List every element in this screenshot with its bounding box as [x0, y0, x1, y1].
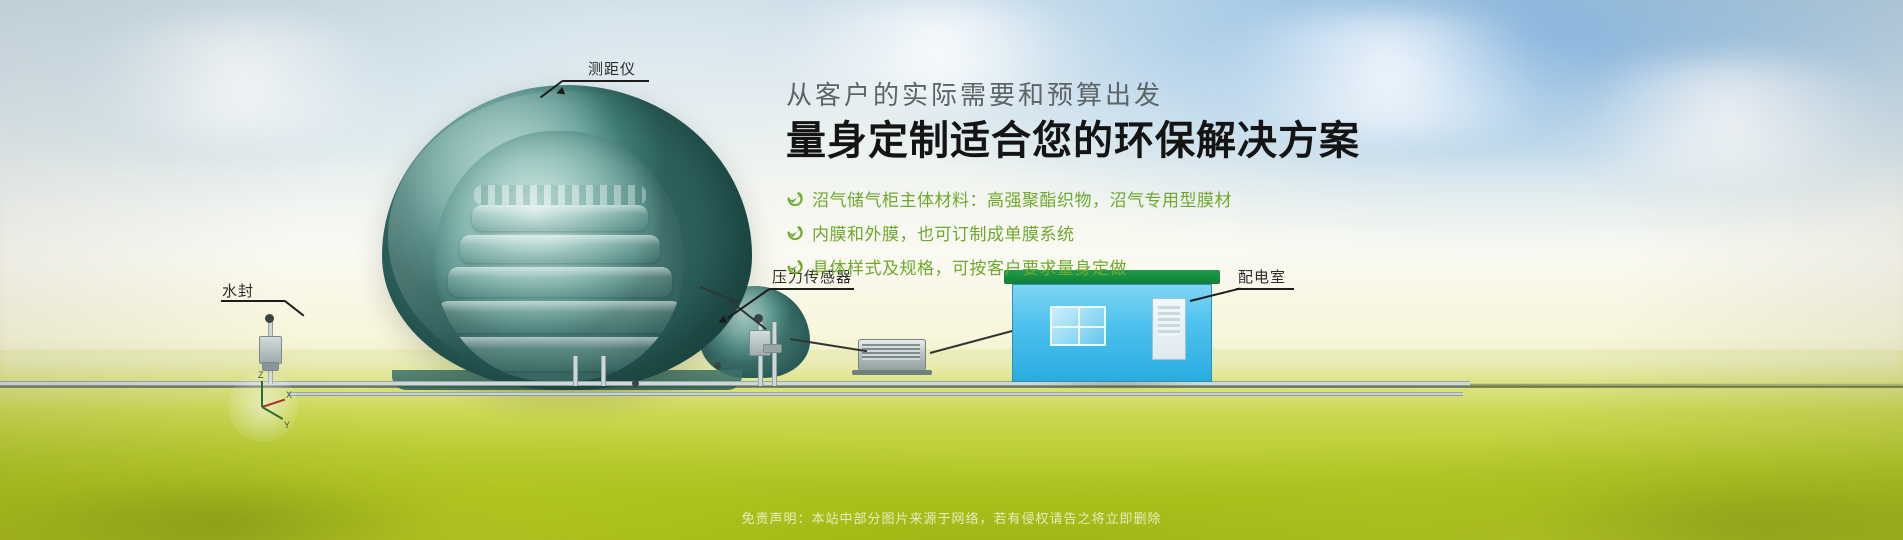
axis-x: [262, 399, 285, 408]
axis-gizmo: Z X Y: [228, 372, 298, 442]
feature-list: 沼气储气柜主体材料：高强聚酯织物，沼气专用型膜材 内膜和外膜，也可订制成单膜系统: [786, 183, 1786, 281]
membrane-fold: [434, 337, 684, 371]
footer-disclaimer: 免责声明：本站中部分图片来源于网络，若有侵权请告之将立即删除: [0, 508, 1903, 527]
cloud: [60, 20, 420, 140]
list-item-label: 内膜和外膜，也可订制成单膜系统: [812, 220, 1075, 245]
pipe-cap: [265, 314, 274, 323]
secondary-pipe: [288, 392, 1463, 396]
axis-label-x: X: [286, 390, 292, 400]
field-shadow-right: [1500, 470, 1903, 540]
pipe-riser: [601, 356, 606, 386]
water-seal-valve: [259, 336, 282, 364]
axis-y: [262, 406, 284, 420]
membrane-fold: [460, 235, 660, 263]
hero-copy: 从客户的实际需要和预算出发 量身定制适合您的环保解决方案 沼气储气柜主体材料：高…: [786, 78, 1786, 285]
check-icon: [786, 189, 804, 207]
power-distribution-room: [1012, 270, 1212, 382]
membrane-crinkle: [474, 185, 646, 205]
callout-leader-line: [563, 80, 649, 82]
main-pipe: [0, 381, 1470, 386]
callout-leader-line: [1236, 288, 1294, 290]
list-item: 具体样式及规格，可按客户要求量身定做: [786, 251, 1786, 281]
water-seal-flange: [262, 362, 279, 371]
pipe-riser: [772, 322, 777, 386]
axis-z: [261, 381, 263, 407]
hero-banner: Z X Y 测距仪 水封 压力传感器 配电室 从客户的实际需要和预算出发 量身定…: [0, 0, 1903, 540]
callout-leader-line: [770, 288, 854, 290]
dome-inner-membrane: [434, 131, 684, 381]
hero-headline: 量身定制适合您的环保解决方案: [786, 115, 1786, 167]
membrane-fold: [448, 267, 672, 297]
membrane-fold: [472, 205, 648, 231]
pipe-joint: [714, 362, 721, 369]
field-shadow-left: [0, 470, 480, 540]
list-item: 沼气储气柜主体材料：高强聚酯织物，沼气专用型膜材: [786, 183, 1786, 213]
label-rangefinder: 测距仪: [588, 58, 636, 79]
biogas-dome: [382, 85, 752, 390]
house-window: [1050, 306, 1106, 346]
list-item-label: 沼气储气柜主体材料：高强聚酯织物，沼气专用型膜材: [812, 186, 1232, 211]
pipe-joint: [632, 380, 639, 387]
blower-base: [852, 370, 932, 375]
axis-label-y: Y: [284, 420, 290, 430]
membrane-fold: [438, 301, 682, 333]
check-icon: [786, 223, 804, 241]
pressure-sensor-flange: [763, 344, 782, 353]
blower-grille: [862, 344, 920, 360]
list-item: 内膜和外膜，也可订制成单膜系统: [786, 217, 1786, 247]
list-item-label: 具体样式及规格，可按客户要求量身定做: [812, 254, 1127, 279]
axis-label-z: Z: [258, 370, 264, 380]
hero-eyebrow: 从客户的实际需要和预算出发: [786, 78, 1786, 113]
pipe-riser: [573, 356, 578, 386]
label-water-seal: 水封: [222, 280, 254, 301]
house-control-panel: [1158, 306, 1180, 336]
check-icon: [786, 257, 804, 275]
